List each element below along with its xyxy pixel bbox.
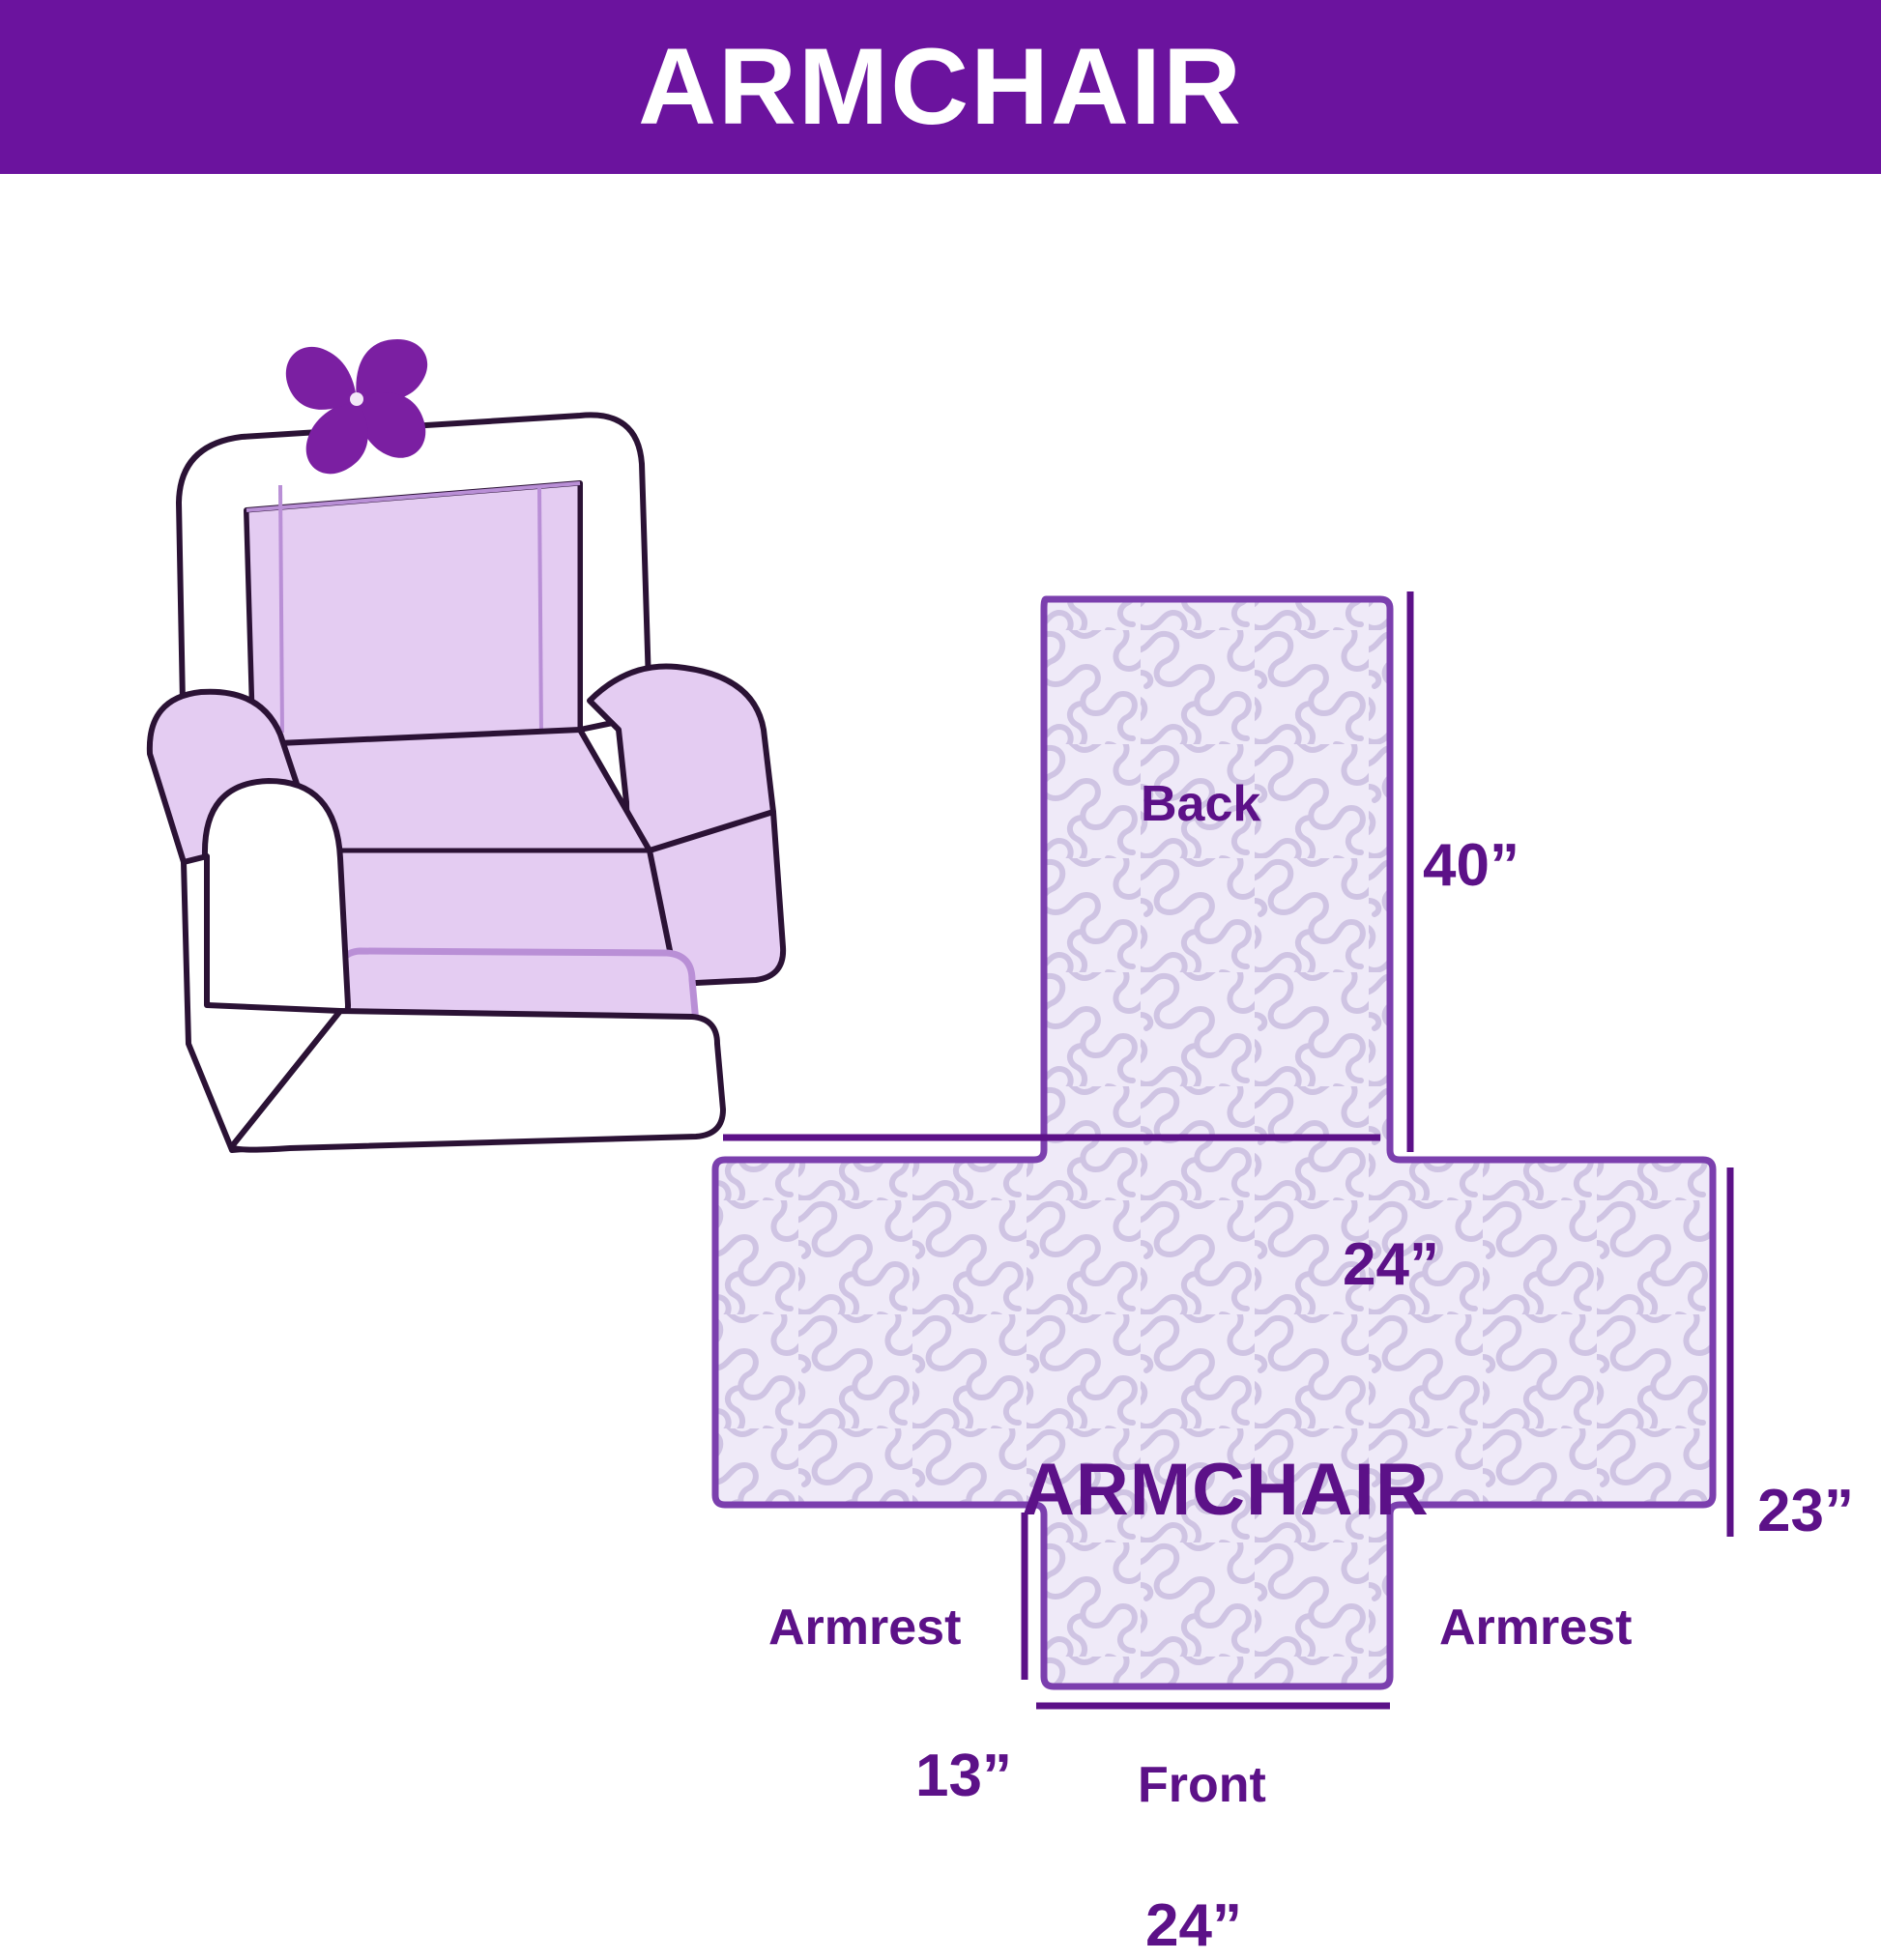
- diagram-canvas: 40” 24” 23” 13” 24” Back ARMCHAIR Armres…: [0, 174, 1881, 1881]
- header-banner: ARMCHAIR: [0, 0, 1881, 174]
- panel-label-front: Front: [1138, 1756, 1266, 1814]
- dimension-label-back-width: 24”: [1343, 1230, 1439, 1299]
- page-title: ARMCHAIR: [638, 33, 1243, 141]
- panel-label-center: ARMCHAIR: [1022, 1448, 1430, 1532]
- panel-label-back: Back: [1141, 775, 1260, 833]
- panel-label-armrest-left: Armrest: [768, 1599, 961, 1657]
- dimension-label-back-height: 40”: [1423, 831, 1519, 900]
- panel-label-armrest-right: Armrest: [1439, 1599, 1632, 1657]
- armchair-illustration: [150, 339, 783, 1150]
- dimension-label-front-height: 13”: [915, 1742, 1012, 1810]
- dimension-label-armrest-height: 23”: [1757, 1477, 1854, 1545]
- dimension-label-front-width: 24”: [1145, 1891, 1242, 1960]
- pinwheel-fan-logo: [286, 339, 427, 474]
